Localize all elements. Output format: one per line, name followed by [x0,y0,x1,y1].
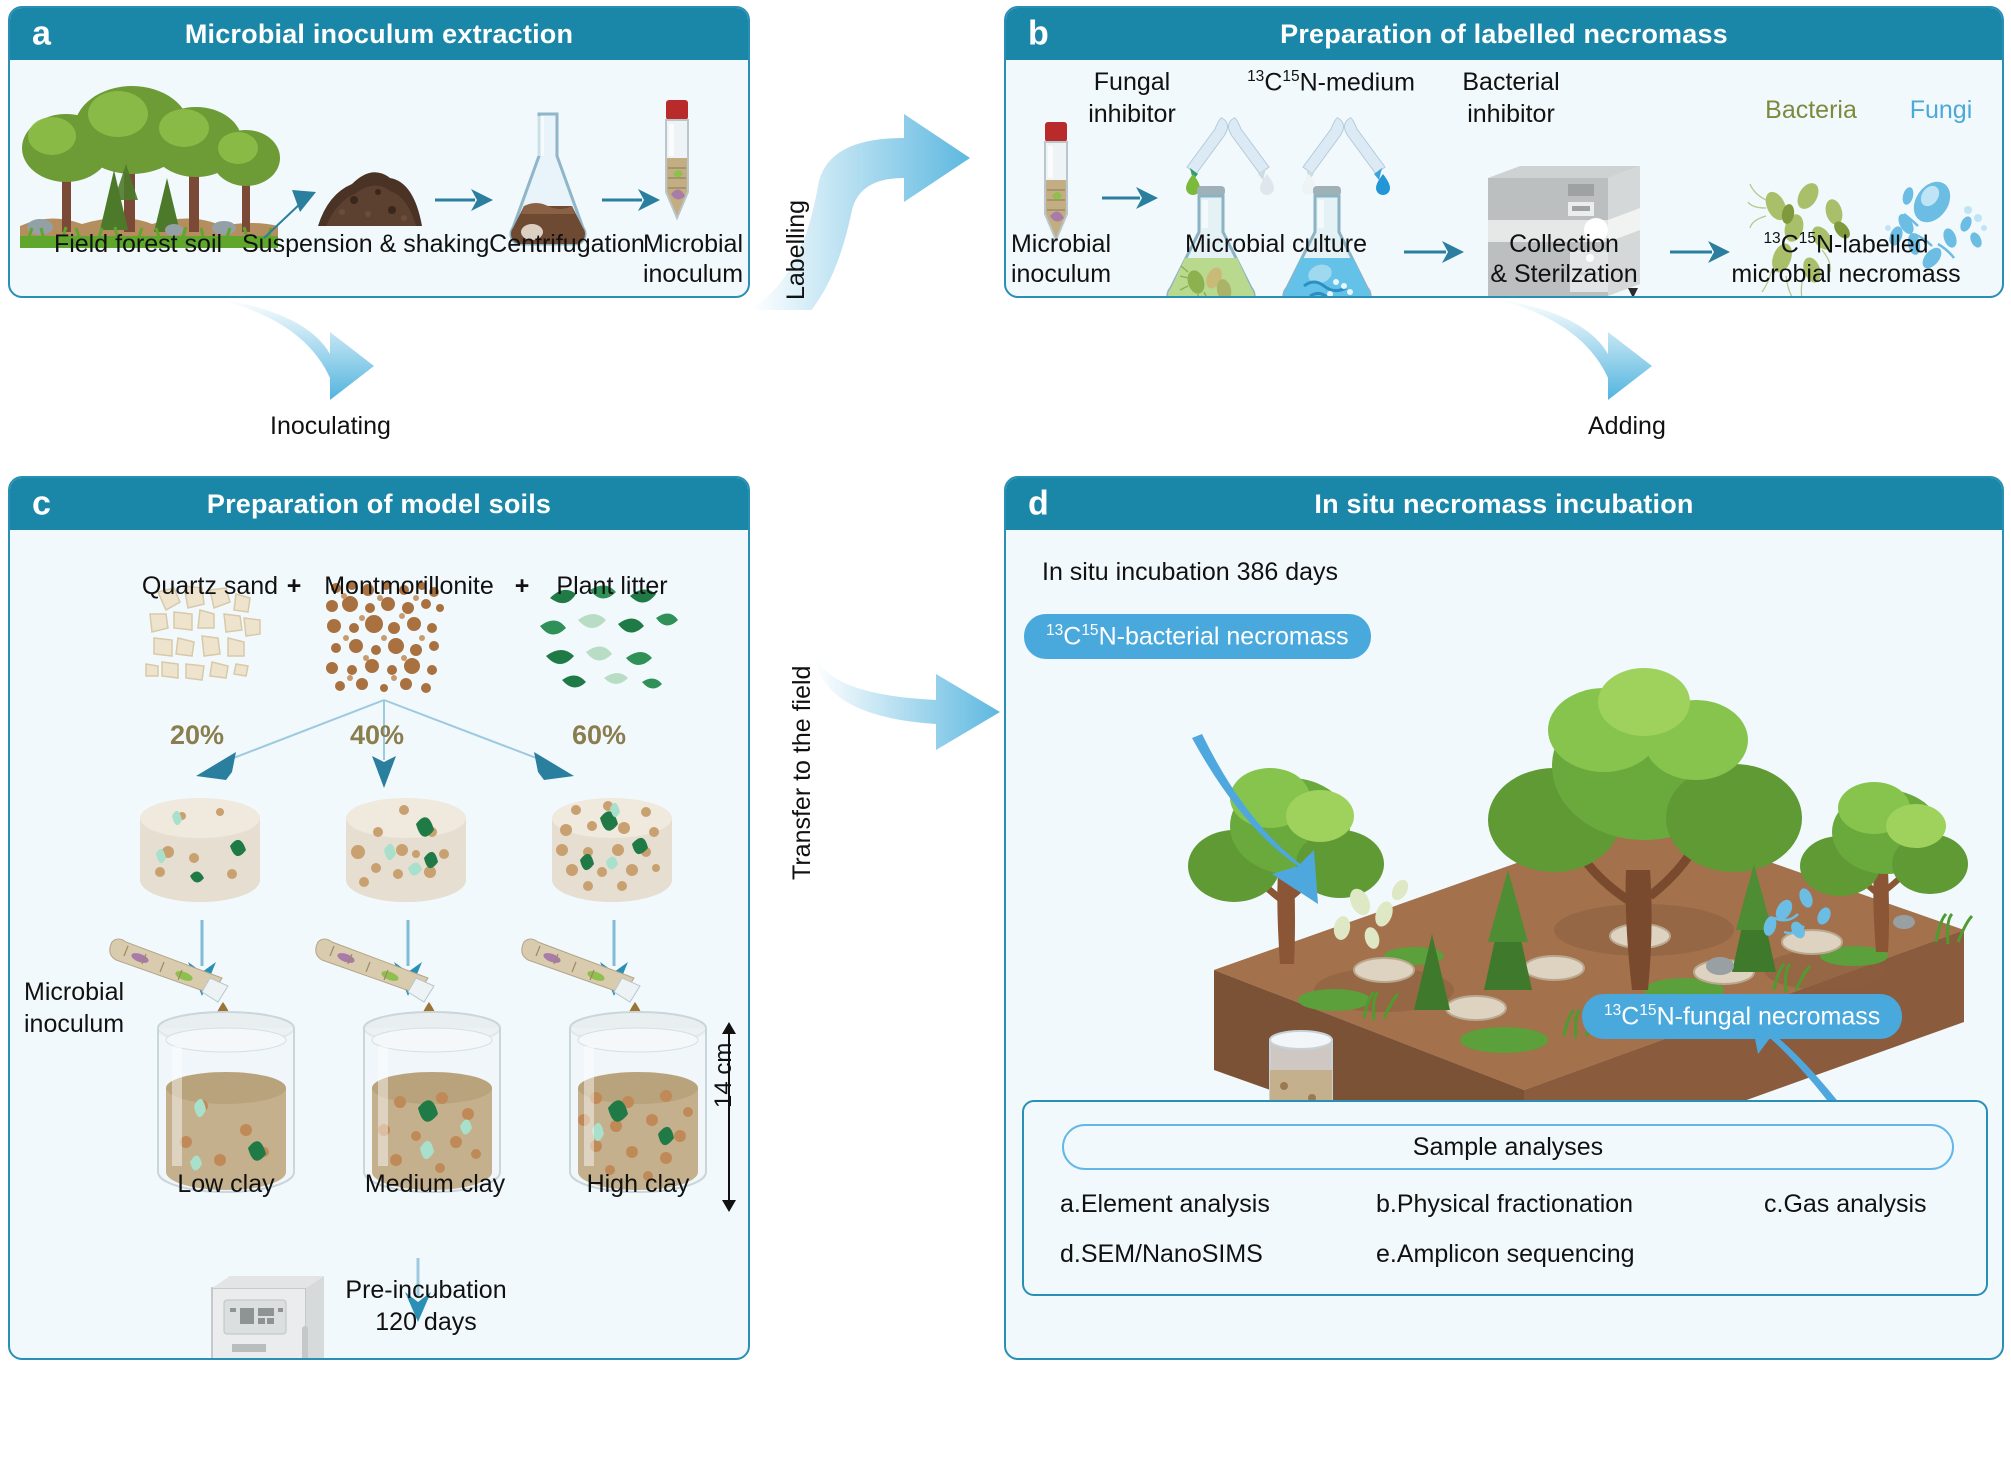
panel-b-label-sterilization: & Sterilzation [1454,260,1674,288]
panel-c-label-inoculum-l2: inoculum [24,1010,154,1038]
connector-label-labelling: Labelling [782,200,811,300]
panel-c-percent-40: 40% [350,720,404,751]
panel-c-label-quartz-sand: Quartz sand [120,572,300,600]
connector-label-inoculating: Inoculating [270,412,391,441]
sample-analyses-box: Sample analyses a.Element analysis b.Phy… [1022,1100,1988,1296]
analysis-item-b: b.Physical fractionation [1376,1190,1633,1219]
incubator-icon [198,1266,334,1360]
pill-fungal-necromass: 13C15N-fungal necromass [1582,994,1902,1039]
soil-cylinder-medium [340,796,472,908]
pill-bacterial-necromass: 13C15N-bacterial necromass [1024,614,1371,659]
field-soil-block-icon [1084,570,1984,1190]
flask-icon [502,110,594,250]
panel-c-label-high-clay: High clay [558,1170,718,1198]
panel-c: c Preparation of model soils [8,476,750,1360]
panel-d-title: In situ necromass incubation [1006,489,2002,520]
arrow-right-icon [435,186,495,214]
panel-b-label-fungal-inhibitor-l2: inhibitor [1062,100,1202,128]
pill-bac-13-sup: 13 [1046,622,1063,639]
connector-arrow-inoculating [212,296,462,406]
necromass-rest: N-labelled [1816,230,1929,258]
medium-13-sup: 13 [1247,68,1264,85]
panel-a-label-suspension-shaking: Suspension & shaking [242,230,482,258]
necromass-13-sup: 13 [1763,230,1780,247]
pill-fun-c: C [1621,1002,1639,1030]
soil-cylinder-high [546,796,678,908]
panel-a-header: a Microbial inoculum extraction [10,8,748,60]
panel-c-label-plant-litter: Plant litter [532,572,692,600]
panel-c-label-preincubation-l1: Pre-incubation [316,1276,536,1304]
panel-a-letter: a [32,16,51,50]
panel-b-label-bacterial-inhibitor-l2: inhibitor [1426,100,1596,128]
panel-b-label-bacterial-inhibitor-l1: Bacterial [1426,68,1596,96]
panel-c-label-inoculum-l1: Microbial [24,978,154,1006]
panel-b: b Preparation of labelled necromass [1004,6,2004,298]
tube-icon [653,98,701,226]
pill-fun-13-sup: 13 [1604,1002,1621,1019]
pill-fun-15-sup: 15 [1639,1002,1656,1019]
arrow-right-icon [1102,184,1160,212]
panel-c-body [10,530,748,1358]
panel-b-label-bacteria: Bacteria [1736,96,1886,124]
panel-c-letter: c [32,486,51,520]
panel-c-header: c Preparation of model soils [10,478,748,530]
panel-b-header: b Preparation of labelled necromass [1006,8,2002,60]
panel-d-letter: d [1028,486,1049,520]
panel-c-label-montmorillonite: Montmorillonite [304,572,514,600]
panel-d: d In situ necromass incubation [1004,476,2004,1360]
soil-heap-icon [312,148,430,236]
forest-icon [14,70,284,255]
panel-c-label-low-clay: Low clay [146,1170,306,1198]
connector-arrow-adding [1490,296,1740,406]
panel-d-incubation-text: In situ incubation 386 days [1042,558,1482,586]
panel-b-label-microbial-culture: Microbial culture [1156,230,1396,258]
sample-analyses-capsule: Sample analyses [1062,1124,1954,1170]
panel-c-label-medium-clay: Medium clay [340,1170,530,1198]
connector-label-transfer: Transfer to the field [788,666,817,880]
analysis-item-d: d.SEM/NanoSIMS [1060,1240,1263,1269]
panel-a-label-field-forest-soil: Field forest soil [18,230,258,258]
analysis-item-a: a.Element analysis [1060,1190,1270,1219]
necromass-15-sup: 15 [1799,230,1816,247]
panel-b-letter: b [1028,16,1049,50]
panel-b-label-collection: Collection [1454,230,1674,258]
panel-c-percent-20: 20% [170,720,224,751]
panel-b-label-fungi: Fungi [1886,96,1996,124]
panel-d-header: d In situ necromass incubation [1006,478,2002,530]
panel-c-title: Preparation of model soils [10,489,748,520]
medium-rest: N-medium [1300,68,1415,96]
pill-bac-rest: N-bacterial necromass [1099,622,1349,650]
panel-b-label-fungal-inhibitor-l1: Fungal [1062,68,1202,96]
soil-cylinder-low [134,796,266,908]
panel-a-title: Microbial inoculum extraction [10,19,748,50]
pill-bac-15-sup: 15 [1081,622,1098,639]
panel-b-label-microbial-inoculum-l2: inoculum [1004,260,1126,288]
connector-label-adding: Adding [1588,412,1666,441]
pill-bac-c: C [1063,622,1081,650]
panel-c-dimension-14cm: 14 cm [710,1043,738,1108]
medium-c: C [1264,68,1282,96]
panel-c-percent-60: 60% [572,720,626,751]
analysis-item-e: e.Amplicon sequencing [1376,1240,1635,1269]
necromass-c: C [1781,230,1799,258]
panel-b-label-necromass-l1: 13C15N-labelled [1696,230,1996,258]
panel-b-label-necromass-l2: microbial necromass [1696,260,1996,288]
tube-icon [1032,120,1080,248]
analysis-item-c: c.Gas analysis [1764,1190,1927,1219]
panel-b-title: Preparation of labelled necromass [1006,19,2002,50]
medium-15-sup: 15 [1282,68,1299,85]
pill-fun-rest: N-fungal necromass [1657,1002,1881,1030]
panel-b-label-microbial-inoculum-l1: Microbial [1004,230,1126,258]
panel-c-label-preincubation-l2: 120 days [316,1308,536,1336]
